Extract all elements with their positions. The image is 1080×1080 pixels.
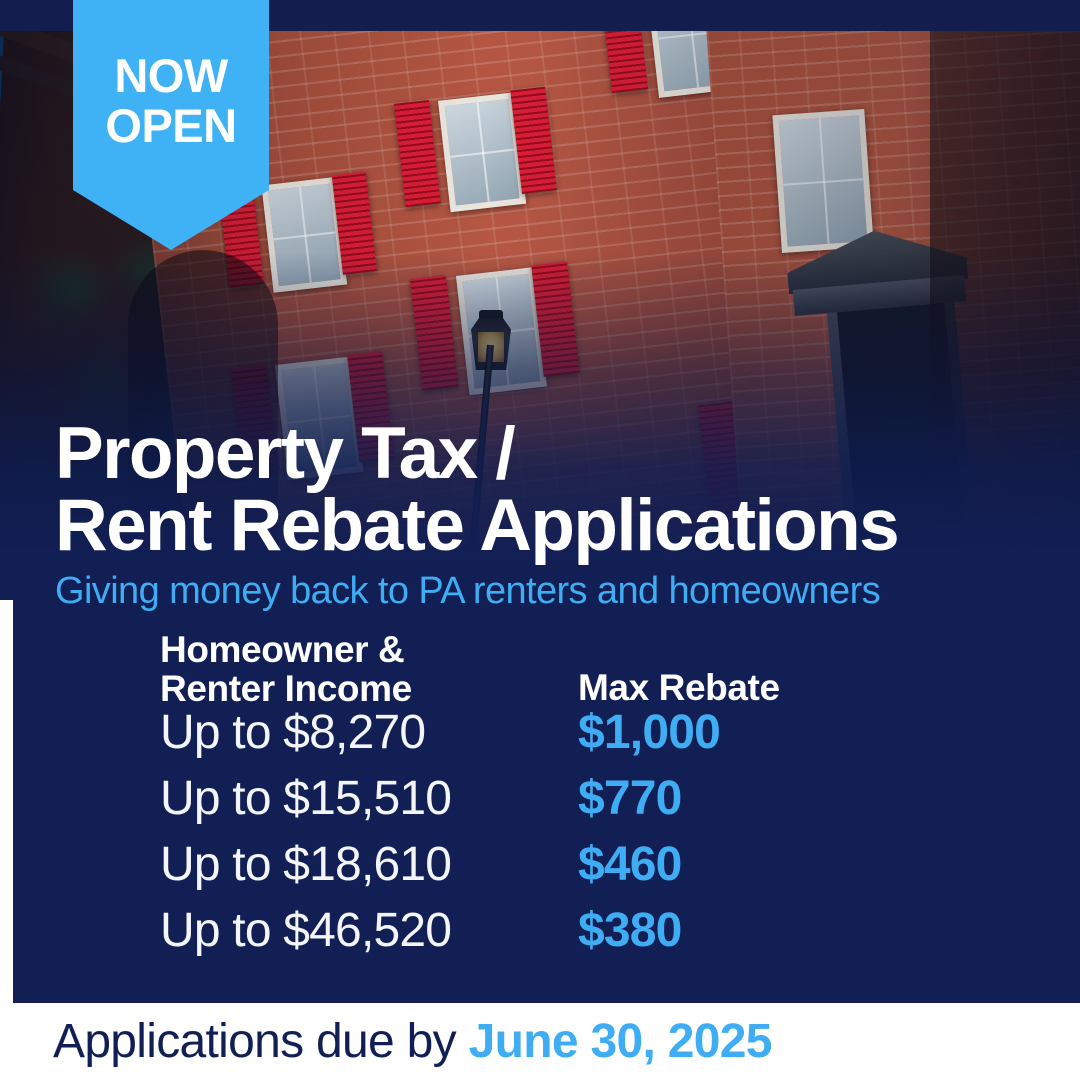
poster: NOW OPEN Property Tax / Rent Rebate Appl…: [0, 0, 1080, 1080]
title-line-1: Property Tax /: [55, 418, 1045, 490]
income-value: Up to $18,610: [160, 840, 451, 890]
income-value: Up to $8,270: [160, 708, 425, 758]
income-value: Up to $15,510: [160, 774, 451, 824]
table-row: Up to $8,270 $1,000: [0, 708, 1080, 774]
table-row: Up to $46,520 $380: [0, 906, 1080, 972]
badge-line-2: OPEN: [105, 101, 236, 151]
income-header-line-2: Renter Income: [160, 669, 412, 708]
deadline-text: Applications due by June 30, 2025: [53, 1014, 772, 1069]
table-row: Up to $15,510 $770: [0, 774, 1080, 840]
page-title: Property Tax / Rent Rebate Applications: [55, 418, 1045, 563]
column-header-rebate: Max Rebate: [578, 668, 780, 707]
rebate-value: $380: [578, 906, 682, 956]
income-header-line-1: Homeowner &: [160, 630, 412, 669]
footer-bar: Applications due by June 30, 2025: [0, 1003, 1080, 1080]
rebate-value: $770: [578, 774, 682, 824]
subtitle: Giving money back to PA renters and home…: [55, 572, 880, 610]
badge-line-1: NOW: [114, 51, 227, 101]
rebate-value: $460: [578, 840, 682, 890]
rebate-value: $1,000: [578, 708, 720, 758]
rebate-table: Homeowner & Renter Income Max Rebate Up …: [0, 630, 1080, 972]
income-value: Up to $46,520: [160, 906, 451, 956]
deadline-date: June 30, 2025: [469, 1015, 772, 1068]
table-row: Up to $18,610 $460: [0, 840, 1080, 906]
table-header-row: Homeowner & Renter Income Max Rebate: [0, 630, 1080, 708]
title-line-2: Rent Rebate Applications: [55, 490, 1045, 562]
deadline-lead: Applications due by: [53, 1015, 469, 1068]
column-header-income: Homeowner & Renter Income: [160, 630, 412, 708]
